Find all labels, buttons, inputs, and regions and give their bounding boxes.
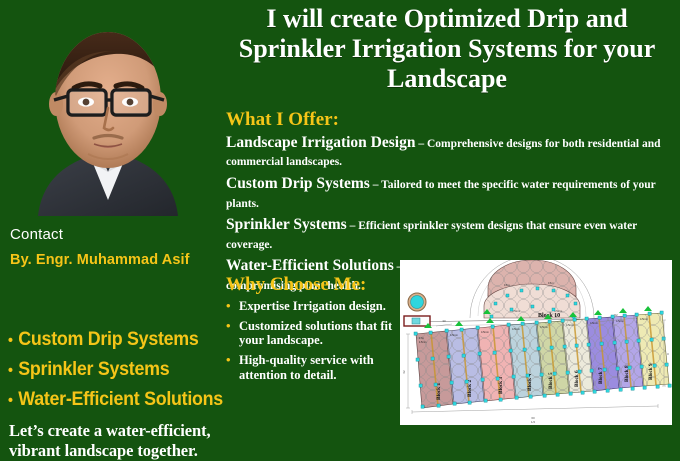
svg-text:1/4: 1/4 [531,420,536,424]
bullet-dot-icon: • [8,393,13,408]
offer-item: Custom Drip Systems – Tailored to meet t… [226,175,676,212]
offer-item-term: Custom Drip Systems [226,175,370,192]
list-item: Expertise Irrigation design. [226,299,401,314]
left-column: Contact By. Engr. Muhammad Asif • Custom… [0,0,215,446]
list-item: Customized solutions that fit your lands… [226,319,401,349]
svg-text:62: 62 [402,370,406,374]
list-item: High-quality service with attention to d… [226,353,401,383]
svg-text:4.5mm: 4.5mm [566,323,574,327]
offer-item-term: Sprinkler Systems [226,216,347,233]
portrait-photo [22,4,194,216]
list-item: • Sprinkler Systems [8,360,243,379]
svg-text:4.5mm: 4.5mm [640,317,648,321]
svg-text:15m: 15m [548,281,554,285]
offer-item-term: Water-Efficient Solutions [226,257,394,274]
water-source-tank-icon [408,293,426,311]
svg-text:4.5mm: 4.5mm [512,327,520,331]
contact-label: Contact [10,226,63,243]
svg-text:4.5mm: 4.5mm [419,341,426,344]
page-title: I will create Optimized Drip and Sprinkl… [218,4,676,94]
svg-text:4.5mm: 4.5mm [512,309,521,313]
list-item-label: Sprinkler Systems [18,360,169,379]
offer-item-term: Landscape Irrigation Design [226,134,415,151]
svg-text:4.5mm: 4.5mm [554,309,563,313]
svg-text:4.5mm: 4.5mm [450,333,458,337]
list-item-label: Custom Drip Systems [18,330,198,349]
service-bullet-list: • Custom Drip Systems • Sprinkler System… [8,330,258,420]
svg-text:4.5mm: 4.5mm [481,330,489,334]
offer-item: Landscape Irrigation Design – Comprehens… [226,134,676,171]
svg-text:52: 52 [614,313,618,317]
bullet-dot-icon: • [8,333,13,348]
svg-text:4.5mm: 4.5mm [540,325,548,329]
svg-text:4.5mm: 4.5mm [590,321,598,325]
pump-house-icon [404,316,430,326]
list-item: • Custom Drip Systems [8,330,243,349]
why-heading: Why Choose Me: [226,275,401,295]
tagline: Let’s create a water-efficient, vibrant … [9,421,215,461]
bullet-dot-icon: • [8,363,13,378]
offer-item: Sprinkler Systems – Efficient sprinkler … [226,216,676,253]
irrigation-plan-drawing: 10 0 Block 11 15m 15m 4.5mm 4.5mm Block … [400,260,672,425]
why-choose-list: Expertise Irrigation design. Customized … [226,299,401,383]
contact-name: By. Engr. Muhammad Asif [10,252,190,268]
list-item-label: Water-Efficient Solutions [18,390,223,409]
list-item: • Water-Efficient Solutions [8,390,243,409]
avatar [22,4,194,216]
gig-thumbnail-canvas: Contact By. Engr. Muhammad Asif • Custom… [0,0,680,446]
offer-heading: What I Offer: [226,110,676,130]
irrigation-plan-panel: 10 0 Block 11 15m 15m 4.5mm 4.5mm Block … [400,260,672,425]
svg-text:17m: 17m [419,336,424,340]
svg-text:30: 30 [442,319,446,323]
why-choose-section: Why Choose Me: Expertise Irrigation desi… [226,275,401,388]
